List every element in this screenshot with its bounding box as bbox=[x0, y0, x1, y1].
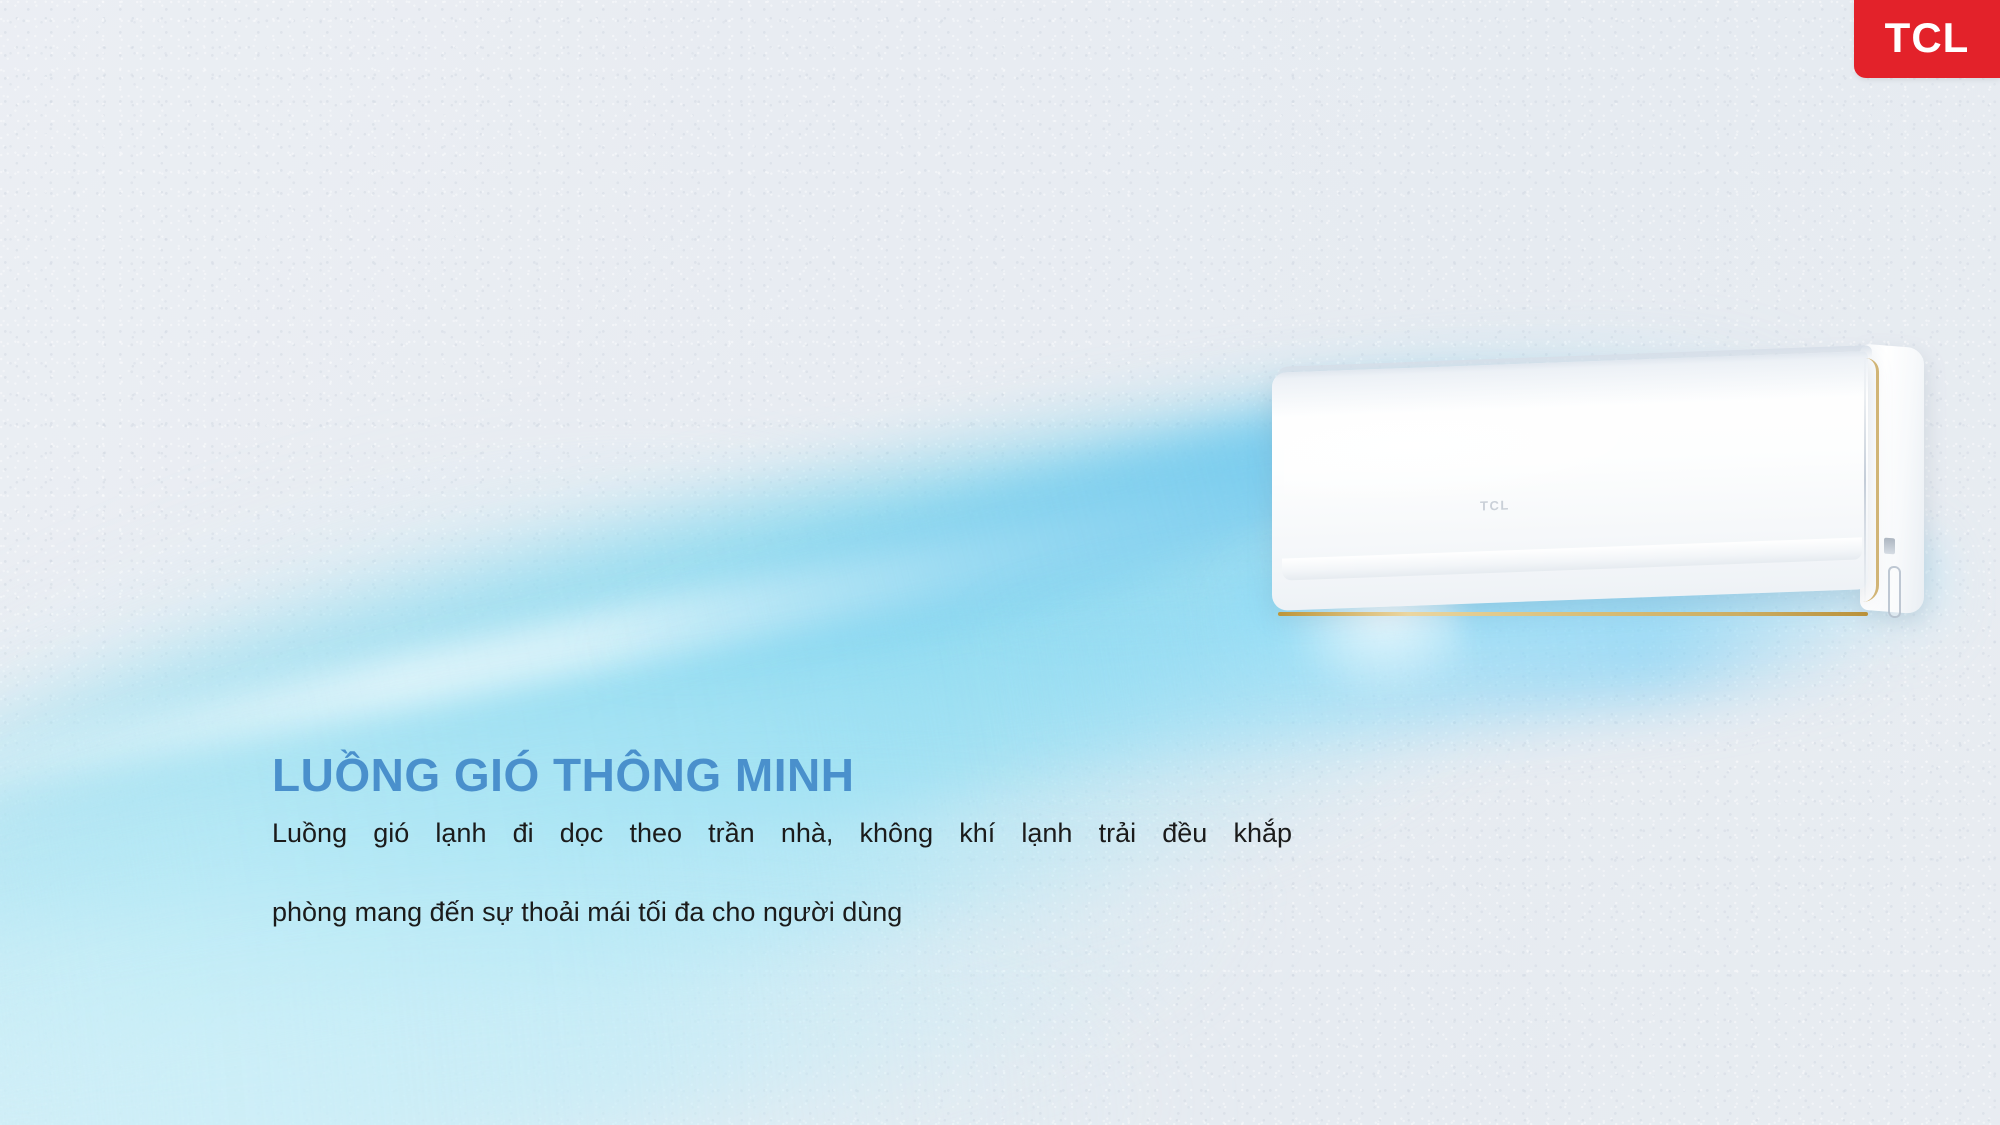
ac-side-vent-slot bbox=[1884, 538, 1895, 555]
tcl-logo-badge[interactable]: TCL bbox=[1854, 0, 2000, 78]
ac-panel-brand-mark: TCL bbox=[1480, 497, 1510, 513]
copy-block: LUỒNG GIÓ THÔNG MINH Luồng gió lạnh đi d… bbox=[272, 752, 1312, 932]
body-copy-line-2: phòng mang đến sự thoải mái tối đa cho n… bbox=[272, 893, 1292, 932]
ac-panel-sheen bbox=[1284, 395, 1701, 510]
slide-canvas: TCL TCL LUỒNG GIÓ THÔNG MINH Luồng gió l… bbox=[0, 0, 2000, 1125]
ac-side-seam bbox=[1864, 356, 1866, 606]
headline: LUỒNG GIÓ THÔNG MINH bbox=[272, 752, 1312, 800]
ac-gold-trim-line bbox=[1278, 612, 1868, 616]
tcl-logo-text: TCL bbox=[1885, 17, 1970, 59]
body-copy: Luồng gió lạnh đi dọc theo trần nhà, khô… bbox=[272, 814, 1292, 932]
body-copy-line-1: Luồng gió lạnh đi dọc theo trần nhà, khô… bbox=[272, 814, 1292, 893]
air-conditioner-unit: TCL bbox=[1272, 352, 1922, 622]
ac-side-latch-clip bbox=[1888, 565, 1901, 618]
